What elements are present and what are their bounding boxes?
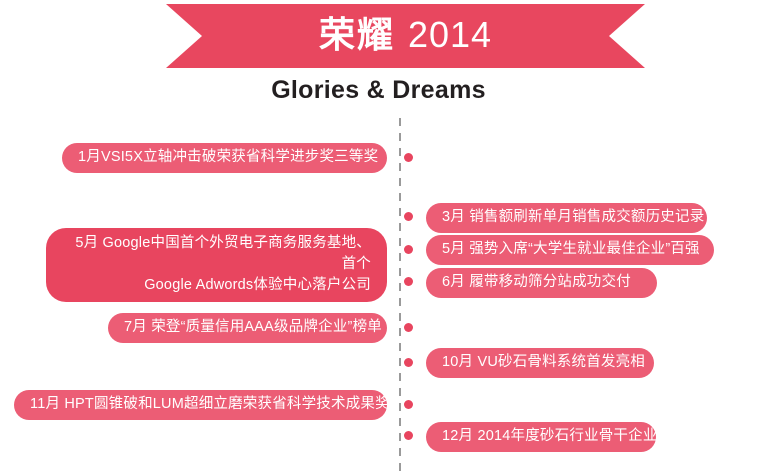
timeline-event-may-employer[interactable]: 5月 强势入席“大学生就业最佳企业”百强 [426, 235, 714, 265]
infographic-canvas: 荣耀 2014 Glories & Dreams 1月VSI5X立轴冲击破荣获省… [0, 0, 757, 471]
timeline-event-jan[interactable]: 1月VSI5X立轴冲击破荣获省科学进步奖三等奖 [62, 143, 387, 173]
ribbon-title-cn: 荣耀 [319, 17, 395, 53]
event-text: 10月 VU砂石骨料系统首发亮相 [442, 354, 645, 370]
event-text: 7月 荣登“质量信用AAA级品牌企业”榜单 [124, 319, 382, 335]
timeline-dot [404, 431, 413, 440]
timeline-dot [404, 212, 413, 221]
timeline-dot [404, 153, 413, 162]
timeline-event-jun[interactable]: 6月 履带移动筛分站成功交付 [426, 268, 657, 298]
timeline-dot [404, 358, 413, 367]
event-text-line2: Google Adwords体验中心落户公司 [144, 277, 371, 293]
ribbon-title: 荣耀 2014 [166, 4, 645, 68]
event-text: 6月 履带移动筛分站成功交付 [442, 274, 631, 290]
timeline-event-mar[interactable]: 3月 销售额刷新单月销售成交额历史记录 [426, 203, 707, 233]
page-subtitle: Glories & Dreams [0, 76, 757, 105]
ribbon-title-year: 2014 [408, 17, 492, 53]
event-text: 11月 HPT圆锥破和LUM超细立磨荣获省科学技术成果奖 [30, 396, 390, 412]
timeline-dot [404, 400, 413, 409]
timeline-spine [399, 118, 401, 471]
event-text: 3月 销售额刷新单月销售成交额历史记录 [442, 209, 704, 225]
event-text-line1: 5月 Google中国首个外贸电子商务服务基地、首个 [75, 235, 371, 272]
timeline-dot [404, 323, 413, 332]
timeline-event-oct[interactable]: 10月 VU砂石骨料系统首发亮相 [426, 348, 654, 378]
timeline-event-dec[interactable]: 12月 2014年度砂石行业骨干企业 [426, 422, 656, 452]
timeline-event-nov[interactable]: 11月 HPT圆锥破和LUM超细立磨荣获省科学技术成果奖 [14, 390, 387, 420]
timeline-event-jul[interactable]: 7月 荣登“质量信用AAA级品牌企业”榜单 [108, 313, 387, 343]
timeline-dot [404, 245, 413, 254]
event-text: 1月VSI5X立轴冲击破荣获省科学进步奖三等奖 [78, 149, 378, 165]
header-ribbon: 荣耀 2014 [166, 4, 645, 68]
event-text: 12月 2014年度砂石行业骨干企业 [442, 428, 658, 444]
timeline-event-may-google[interactable]: 5月 Google中国首个外贸电子商务服务基地、首个 Google Adword… [46, 228, 387, 302]
timeline-dot [404, 277, 413, 286]
event-text: 5月 强势入席“大学生就业最佳企业”百强 [442, 241, 700, 257]
